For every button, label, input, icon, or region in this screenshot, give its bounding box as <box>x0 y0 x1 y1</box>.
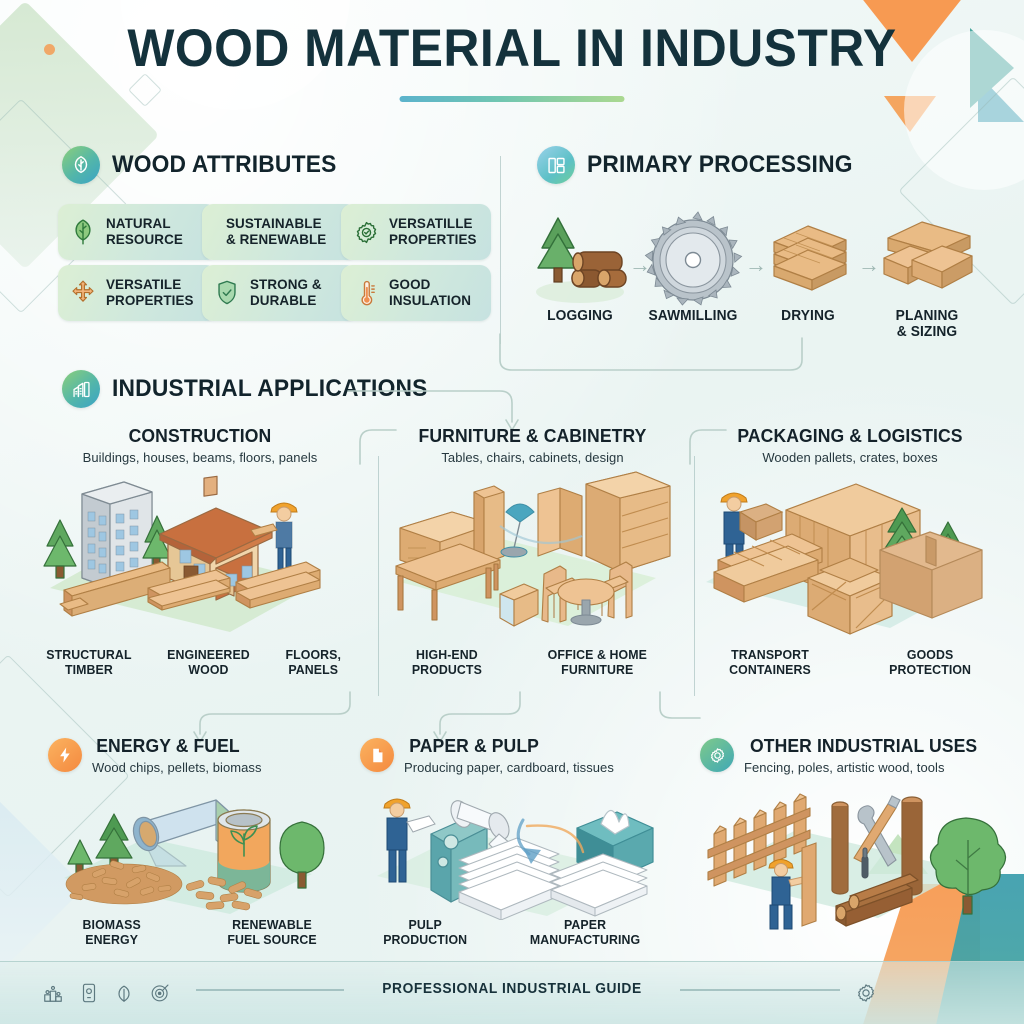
footer-rule-right <box>680 989 840 991</box>
caption-high-end-products: HIGH-ENDPRODUCTS <box>412 648 482 678</box>
application-block-furniture[interactable]: FURNITURE & CABINETRY Tables, chairs, ca… <box>390 425 675 465</box>
attribute-label: GOODINSULATION <box>389 277 471 308</box>
attribute-chip-sustainable-renewable[interactable]: SUSTAINABLE& RENEWABLE <box>202 204 357 260</box>
shield-check-icon <box>212 279 242 307</box>
four-arrows-icon <box>68 279 98 307</box>
page-title: WOOD MATERIAL IN INDUSTRY <box>31 22 994 76</box>
scene-paper <box>355 778 685 920</box>
process-step-sawmilling[interactable]: SAWMILLING <box>645 196 741 325</box>
divider-construction-furniture <box>378 456 379 696</box>
gear-check-icon <box>351 219 381 246</box>
application-title: FURNITURE & CABINETRY <box>397 425 668 447</box>
scene-other-uses <box>690 778 1020 933</box>
gear-icon[interactable] <box>855 982 877 1009</box>
caption-structural-timber: STRUCTURALTIMBER <box>46 648 131 678</box>
attribute-label: VERSATILEPROPERTIES <box>106 277 194 308</box>
attribute-chip-versatille-properties[interactable]: VERSATILLEPROPERTIES <box>341 204 491 260</box>
attribute-label: STRONG &DURABLE <box>250 277 322 308</box>
section-title-primary-processing: PRIMARY PROCESSING <box>587 151 853 179</box>
logs-and-tree-icon <box>528 196 632 304</box>
lightning-bolt-icon <box>48 738 82 772</box>
leaf-icon <box>68 218 98 246</box>
application-block-packaging[interactable]: PACKAGING & LOGISTICS Wooden pallets, cr… <box>700 425 1000 465</box>
caption-renewable-fuel-source: RENEWABLEFUEL SOURCE <box>227 918 316 948</box>
attribute-chip-strong-durable[interactable]: STRONG &DURABLE <box>202 265 357 321</box>
mobile-icon <box>80 982 98 1009</box>
section-header-primary-processing: PRIMARY PROCESSING <box>537 146 867 184</box>
section-header-industrial-applications: INDUSTRIAL APPLICATIONS <box>62 370 444 408</box>
application-title: CONSTRUCTION <box>39 425 362 447</box>
footer-text: PROFESSIONAL INDUSTRIAL GUIDE <box>382 981 641 997</box>
application-subtitle: Fencing, poles, artistic wood, tools <box>744 760 983 775</box>
document-icon <box>360 738 394 772</box>
title-underline <box>400 96 625 102</box>
application-head-row: PAPER & PULP Producing paper, cardboard,… <box>360 735 680 775</box>
caption-biomass-energy: BIOMASSENERGY <box>83 918 141 948</box>
application-title: OTHER INDUSTRIAL USES <box>750 735 977 757</box>
captions-furniture: HIGH-ENDPRODUCTS OFFICE & HOMEFURNITURE <box>380 648 680 678</box>
section-header-wood-attributes: WOOD ATTRIBUTES <box>62 146 348 184</box>
caption-office-home-furniture: OFFICE & HOMEFURNITURE <box>548 648 647 678</box>
section-title-wood-attributes: WOOD ATTRIBUTES <box>112 151 336 179</box>
captions-construction: STRUCTURALTIMBER ENGINEEREDWOOD FLOORS,P… <box>28 648 358 678</box>
application-block-paper[interactable]: PAPER & PULP Producing paper, cardboard,… <box>360 735 680 775</box>
captions-packaging: TRANSPORTCONTAINERS GOODSPROTECTION <box>690 648 1010 678</box>
process-caption: SAWMILLING <box>647 309 738 325</box>
factory-panel-icon <box>537 146 575 184</box>
application-block-energy[interactable]: ENERGY & FUEL Wood chips, pellets, bioma… <box>48 735 348 775</box>
application-head-row: OTHER INDUSTRIAL USES Fencing, poles, ar… <box>700 735 1010 775</box>
captions-paper: PULPPRODUCTION PAPERMANUFACTURING <box>352 918 672 948</box>
scene-construction <box>20 470 370 635</box>
scene-furniture <box>382 470 682 635</box>
attribute-label: NATURALRESOURCE <box>106 216 183 247</box>
process-caption: LOGGING <box>531 309 630 325</box>
caption-engineered-wood: ENGINEEREDWOOD <box>167 648 250 678</box>
footer: PROFESSIONAL INDUSTRIAL GUIDE <box>0 961 1024 1024</box>
application-block-other-uses[interactable]: OTHER INDUSTRIAL USES Fencing, poles, ar… <box>700 735 1010 775</box>
deco-triangle-orange-small <box>884 96 936 132</box>
factory-chart-icon <box>62 370 100 408</box>
application-head-text: PAPER & PULP Producing paper, cardboard,… <box>404 735 614 775</box>
application-title: PACKAGING & LOGISTICS <box>708 425 993 447</box>
caption-goods-protection: GOODSPROTECTION <box>889 648 971 678</box>
application-head-row: ENERGY & FUEL Wood chips, pellets, bioma… <box>48 735 348 775</box>
caption-paper-manufacturing: PAPERMANUFACTURING <box>530 918 640 948</box>
attribute-chip-good-insulation[interactable]: GOODINSULATION <box>341 265 491 321</box>
application-subtitle: Wooden pallets, crates, boxes <box>700 450 1000 465</box>
thermometer-icon <box>351 279 381 307</box>
plant-sprout-icon <box>114 982 134 1009</box>
application-subtitle: Wood chips, pellets, biomass <box>92 760 262 775</box>
scene-energy <box>40 778 370 920</box>
infographic-page: WOOD MATERIAL IN INDUSTRY WOOD ATTRIBUTE… <box>0 0 1024 1024</box>
application-head-text: OTHER INDUSTRIAL USES Fencing, poles, ar… <box>744 735 983 775</box>
application-head-text: ENERGY & FUEL Wood chips, pellets, bioma… <box>92 735 262 775</box>
captions-energy: BIOMASSENERGY RENEWABLEFUEL SOURCE <box>40 918 360 948</box>
attribute-chip-natural-resource[interactable]: NATURALRESOURCE <box>58 204 217 260</box>
planed-beams-icon <box>872 196 982 304</box>
process-caption: PLANING & SIZING <box>875 309 980 341</box>
stacked-lumber-icon <box>760 196 856 304</box>
application-title: ENERGY & FUEL <box>96 735 257 757</box>
process-caption: DRYING <box>762 309 853 325</box>
caption-floors-panels: FLOORS,PANELS <box>285 648 341 678</box>
podium-icon <box>42 982 64 1009</box>
divider-attributes-processing <box>500 156 501 344</box>
application-subtitle: Buildings, houses, beams, floors, panels <box>30 450 370 465</box>
caption-pulp-production: PULPPRODUCTION <box>383 918 467 948</box>
process-step-drying[interactable]: DRYING <box>760 196 856 325</box>
application-subtitle: Producing paper, cardboard, tissues <box>404 760 614 775</box>
target-icon <box>150 982 171 1008</box>
gear-icon <box>700 738 734 772</box>
attribute-label: SUSTAINABLE& RENEWABLE <box>226 216 326 247</box>
application-block-construction[interactable]: CONSTRUCTION Buildings, houses, beams, f… <box>30 425 370 465</box>
attribute-label: VERSATILLEPROPERTIES <box>389 216 477 247</box>
deco-diamond-outline-small-left <box>128 73 162 107</box>
application-title: PAPER & PULP <box>409 735 608 757</box>
connector-processing-to-applications <box>490 330 830 410</box>
process-step-planing-sizing[interactable]: PLANING & SIZING <box>872 196 982 341</box>
leaf-icon <box>62 146 100 184</box>
circular-saw-blade-icon <box>645 196 741 304</box>
caption-transport-containers: TRANSPORTCONTAINERS <box>729 648 811 678</box>
application-subtitle: Tables, chairs, cabinets, design <box>390 450 675 465</box>
scene-packaging <box>690 470 1010 635</box>
process-step-logging[interactable]: LOGGING <box>528 196 632 325</box>
attribute-chip-versatile-properties[interactable]: VERSATILEPROPERTIES <box>58 265 217 321</box>
section-title-industrial-applications: INDUSTRIAL APPLICATIONS <box>112 375 428 403</box>
footer-rule-left <box>196 989 344 991</box>
